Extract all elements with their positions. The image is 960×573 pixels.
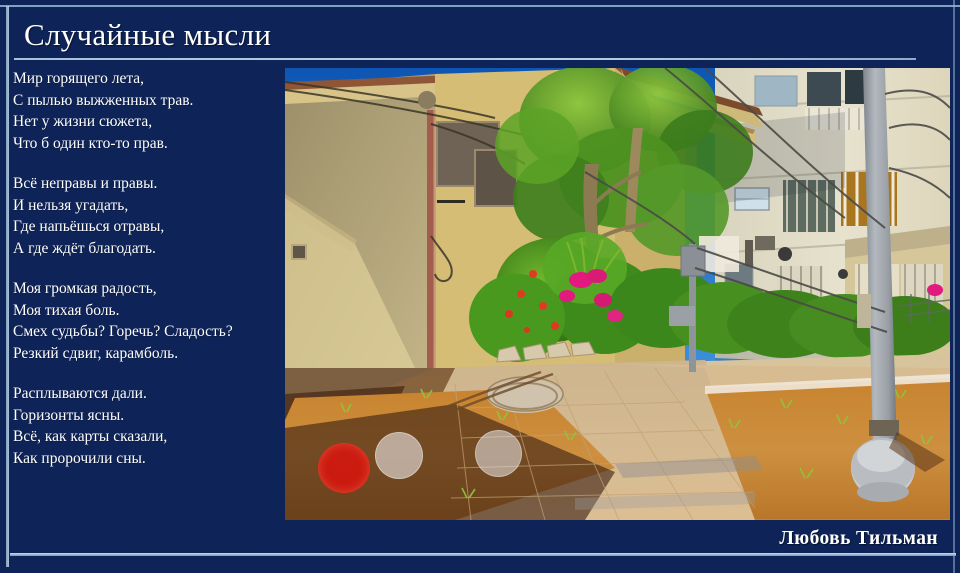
poem-line: Моя громкая радость, — [13, 278, 275, 300]
poem-stanza: Моя громкая радость, Моя тихая боль. Сме… — [13, 278, 275, 364]
poem-line: Расплываются дали. — [13, 383, 275, 405]
poem-slide: Случайные мысли Мир горящего лета, С пыл… — [0, 0, 960, 573]
poem-line: А где ждёт благодать. — [13, 238, 275, 260]
poem-line: И нельзя угадать, — [13, 195, 275, 217]
poem-line: Мир горящего лета, — [13, 68, 275, 90]
poem-line: Смех судьбы? Горечь? Сладость? — [13, 321, 275, 343]
poem-line: С пылью выжженных трав. — [13, 90, 275, 112]
frame-left-border — [6, 6, 9, 567]
frame-right-border — [953, 0, 955, 573]
poem-line: Где напьёшься отравы, — [13, 216, 275, 238]
poem-line: Что б один кто-то прав. — [13, 133, 275, 155]
photo-illustration — [285, 68, 950, 520]
poem-line: Как пророчили сны. — [13, 448, 275, 470]
poem-stanza: Всё неправы и правы. И нельзя угадать, Г… — [13, 173, 275, 259]
title-divider-rule — [14, 58, 916, 60]
street-photograph — [285, 68, 950, 520]
bottom-divider-rule — [10, 553, 956, 556]
poem-line: Моя тихая боль. — [13, 300, 275, 322]
poem-line: Нет у жизни сюжета, — [13, 111, 275, 133]
poem-line: Резкий сдвиг, карамболь. — [13, 343, 275, 365]
frame-top-border — [0, 5, 960, 7]
poem-line: Горизонты ясны. — [13, 405, 275, 427]
author-name: Любовь Тильман — [779, 528, 938, 550]
poem-text: Мир горящего лета, С пылью выжженных тра… — [13, 68, 275, 488]
poem-line: Всё неправы и правы. — [13, 173, 275, 195]
poem-stanza: Мир горящего лета, С пылью выжженных тра… — [13, 68, 275, 154]
poem-stanza: Расплываются дали. Горизонты ясны. Всё, … — [13, 383, 275, 469]
slide-title: Случайные мысли — [24, 17, 271, 53]
poem-line: Всё, как карты сказали, — [13, 426, 275, 448]
